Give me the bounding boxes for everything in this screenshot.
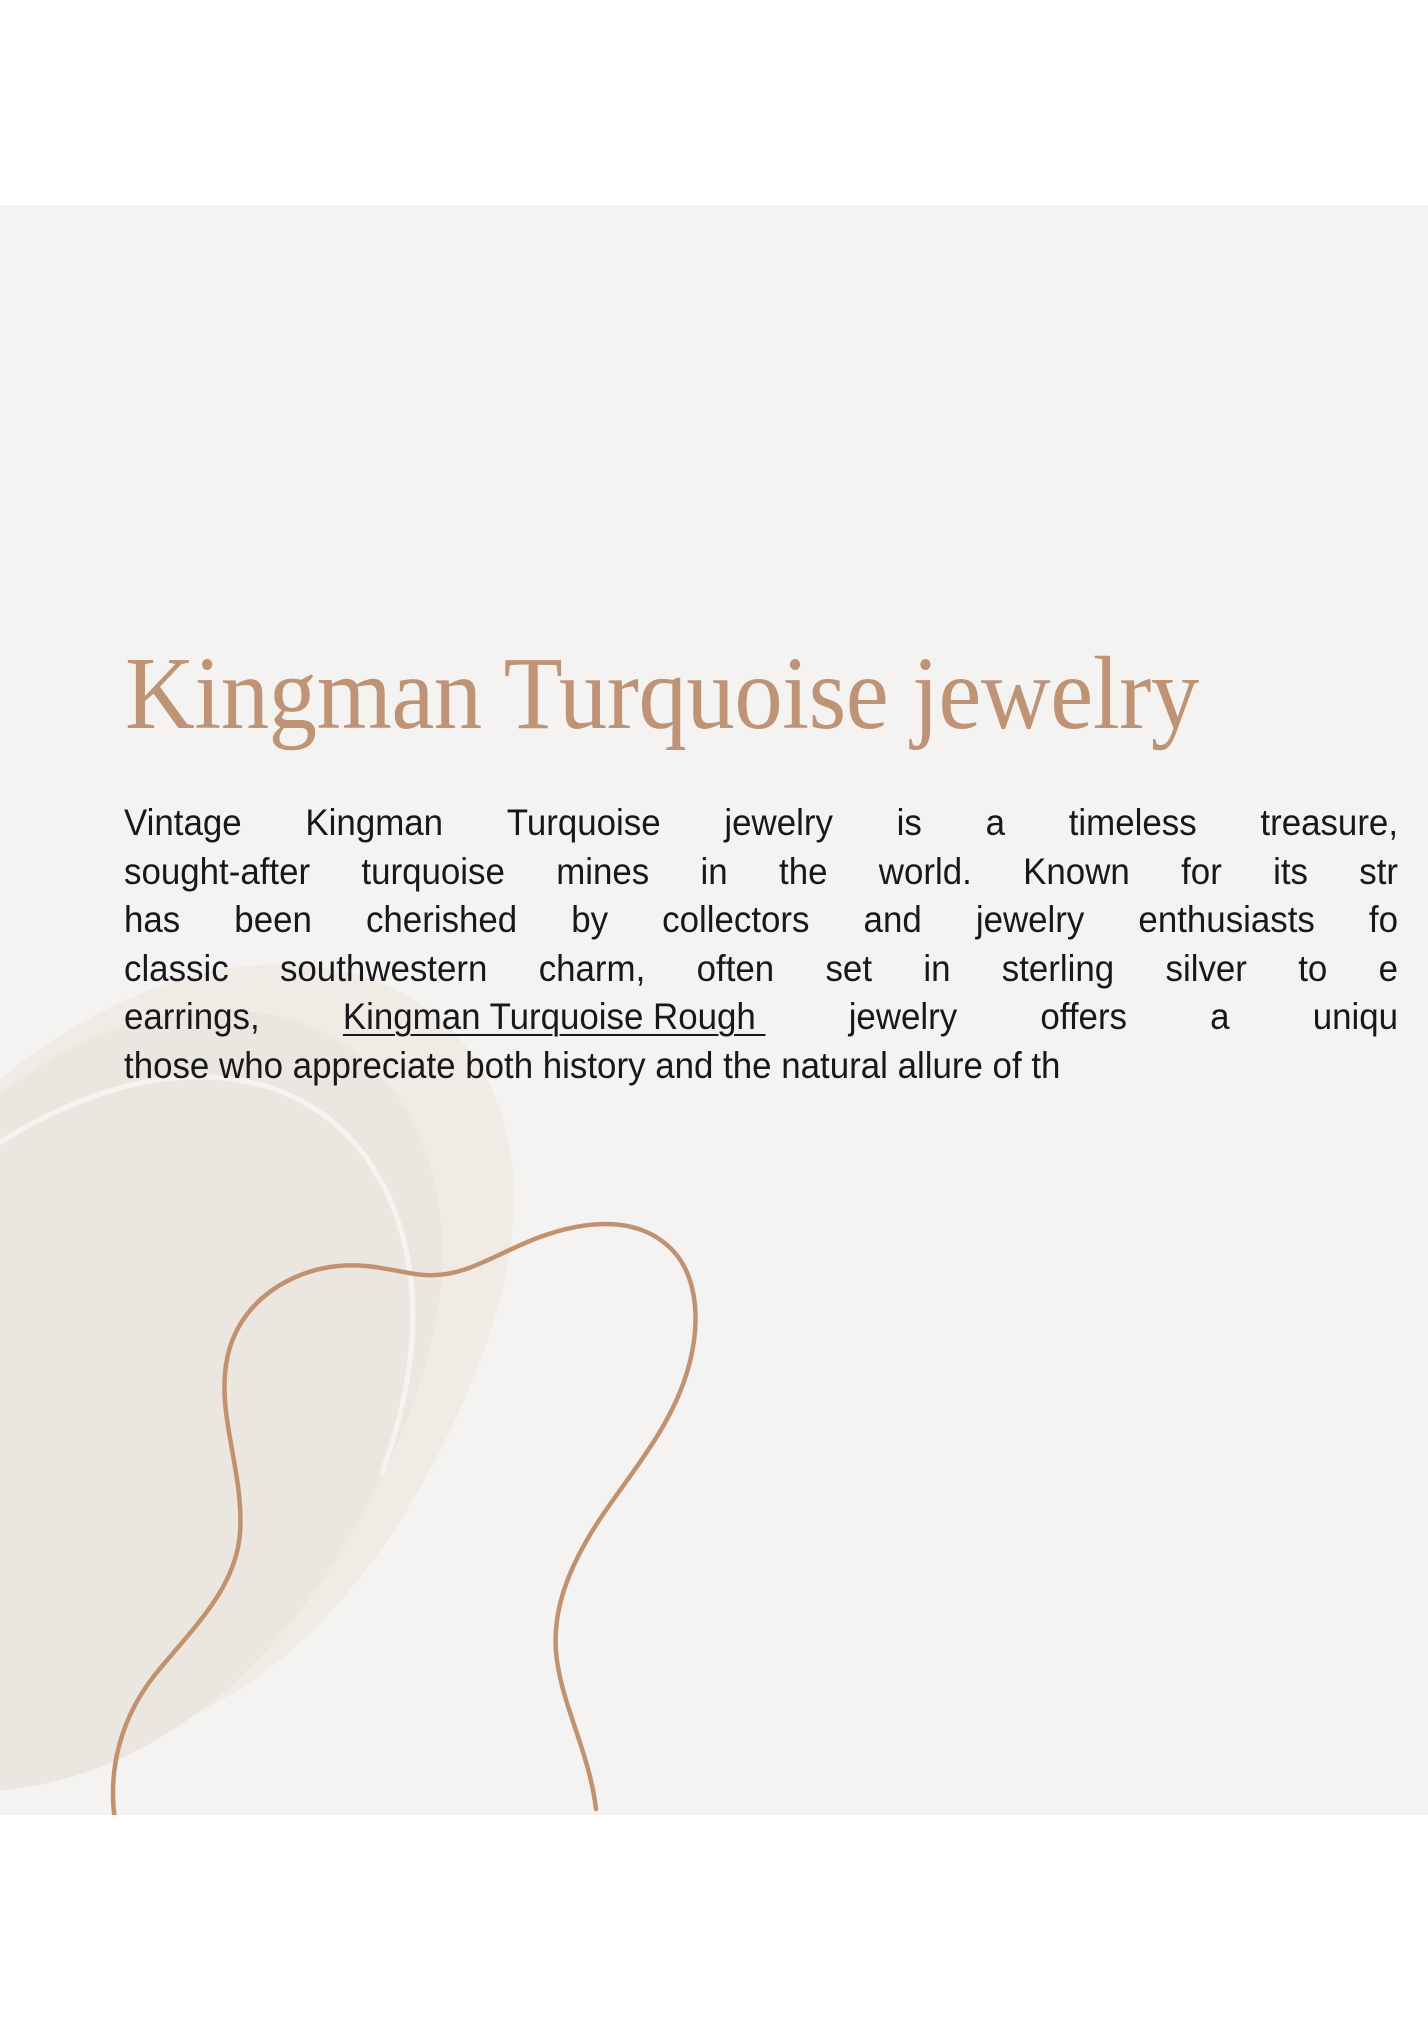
paragraph-word: Known [1023,847,1130,896]
paragraph-word: Turquoise [507,798,661,847]
paragraph-word: sterling [1002,944,1114,993]
paragraph-line-1: VintageKingmanTurquoisejewelryisatimeles… [124,798,1398,847]
paragraph-line-4: classicsouthwesterncharm,oftensetinsterl… [124,944,1398,993]
paragraph-word: a [986,798,1005,847]
content-panel: Kingman Turquoise jewelry VintageKingman… [0,205,1428,1815]
paragraph-line-3: hasbeencherishedbycollectorsandjewelryen… [124,895,1398,944]
paragraph-word: in [701,847,728,896]
paragraph-word: jewelry [976,895,1085,944]
paragraph-word: str [1359,847,1398,896]
paragraph-word: Kingman [305,798,443,847]
blob-highlight-arc [0,1077,413,1473]
paragraph-word: turquoise [361,847,504,896]
paragraph-word: Vintage [124,798,242,847]
paragraph-word: those who appreciate both history and th… [124,1044,1060,1086]
paragraph-word: enthusiasts [1138,895,1314,944]
paragraph-word: southwestern [280,944,487,993]
link-kingman-turquoise-rough[interactable]: Kingman Turquoise Rough [343,992,766,1041]
paragraph-word: is [897,798,922,847]
paragraph-word: silver [1166,944,1247,993]
paragraph-word: a [1210,992,1229,1041]
paragraph-word: its [1273,847,1308,896]
paragraph-word: jewelry [849,992,958,1041]
outline-squiggle-shape [113,1224,695,1815]
paragraph-word: set [825,944,872,993]
article-body-text: VintageKingmanTurquoisejewelryisatimeles… [124,798,1398,1089]
paragraph-line-2: sought-afterturquoiseminesintheworld.Kno… [124,847,1398,896]
paragraph-word: been [234,895,312,944]
paragraph-line-6: those who appreciate both history and th… [124,1041,1398,1090]
paragraph-word: mines [556,847,649,896]
paragraph-word: in [923,944,950,993]
paragraph-word: collectors [662,895,809,944]
paragraph-word: uniqu [1313,992,1398,1041]
paragraph-word: for [1181,847,1222,896]
paragraph-word: fo [1369,895,1398,944]
paragraph-word: earrings, [124,992,260,1041]
paragraph-word: has [124,895,180,944]
paragraph-word: to [1298,944,1327,993]
page-title: Kingman Turquoise jewelry [125,642,1428,746]
paragraph-word: often [697,944,775,993]
paragraph-word: the [779,847,827,896]
paragraph-word: world. [879,847,972,896]
paragraph-word: sought-after [124,847,310,896]
paragraph-word: treasure, [1260,798,1398,847]
paragraph-word: offers [1040,992,1127,1041]
blob-main-shape [0,1010,442,1792]
paragraph-word: classic [124,944,229,993]
paragraph-word: and [864,895,922,944]
paragraph-word: jewelry [724,798,833,847]
paragraph-word: charm, [539,944,646,993]
paragraph-line-5: earrings,Kingman Turquoise Rough jewelry… [124,992,1398,1041]
paragraph-word: timeless [1069,798,1197,847]
paragraph-word: e [1379,944,1398,993]
paragraph-word: cherished [366,895,517,944]
paragraph-word: by [571,895,608,944]
